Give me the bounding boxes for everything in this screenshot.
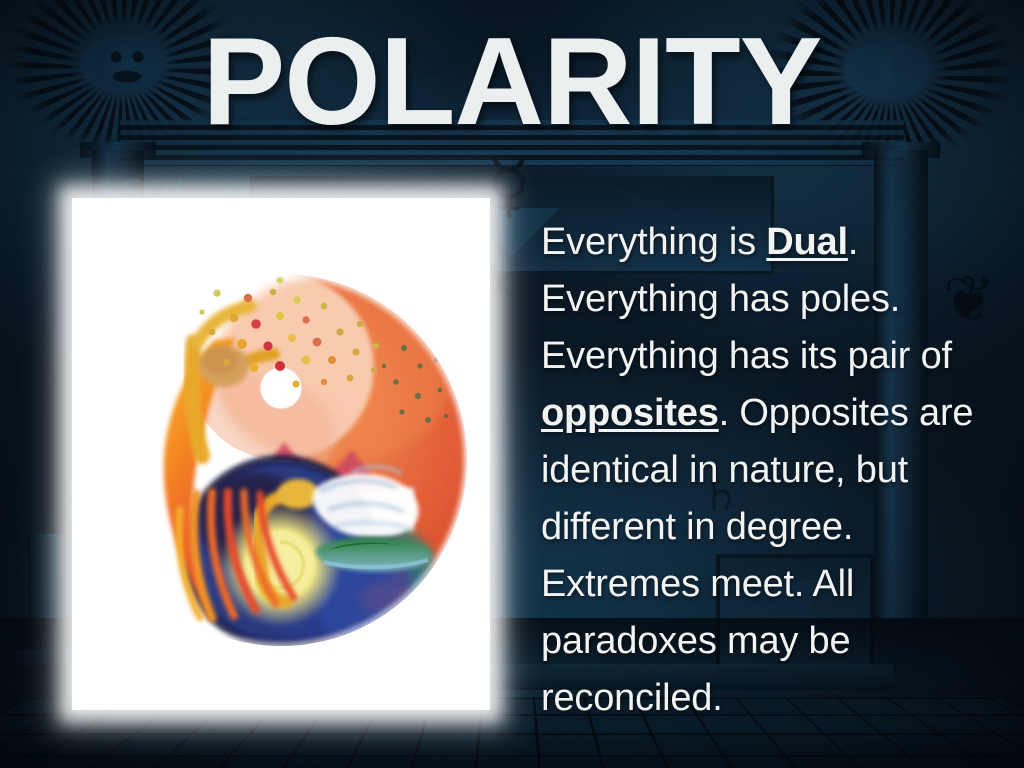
body-line-3a: Everything has its pair of [541, 335, 952, 377]
page-title: POLARITY [0, 20, 1024, 144]
yin-yang-illustration [84, 220, 478, 672]
body-line-3b: . [719, 392, 729, 434]
body-line-2: Everything has poles. [541, 278, 900, 320]
body-emphasis-dual: Dual [766, 221, 848, 263]
body-line-1b: . [848, 221, 858, 263]
body-line-4: Opposites are identical in nature, but d… [541, 392, 973, 719]
artwork-panel-inner [72, 198, 490, 710]
body-emphasis-opposites: opposites [541, 392, 719, 434]
slide-canvas: ☿ ✶ ♄ ❦ SOL POLARITY [0, 0, 1024, 768]
artwork-panel [72, 198, 490, 710]
body-line-1a: Everything is [541, 221, 766, 263]
body-text: Everything is Dual. Everything has poles… [541, 214, 1011, 727]
